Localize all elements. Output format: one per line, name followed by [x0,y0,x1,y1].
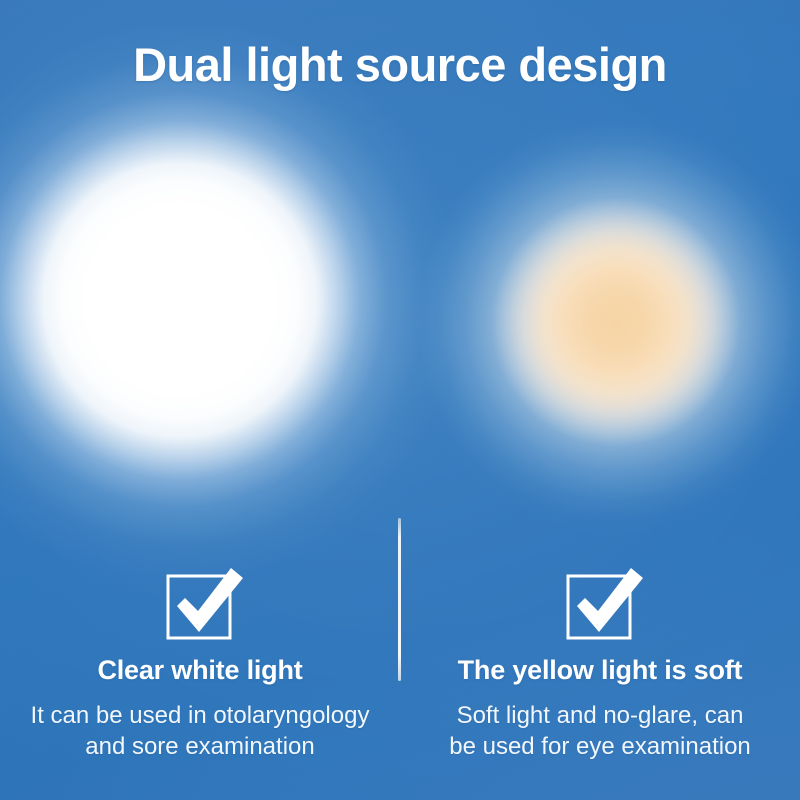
feature-heading: The yellow light is soft [458,656,743,686]
yellow-light-core [491,197,741,447]
white-light-glow [0,0,490,610]
promo-banner: Dual light source design Clear white lig… [0,0,800,800]
feature-description: It can be used in otolaryngology and sor… [5,700,395,762]
checkbox-checked-icon [553,560,648,642]
checkbox-checked-icon [153,560,248,642]
feature-white-light: Clear white light It can be used in otol… [0,560,400,762]
feature-description-line: It can be used in otolaryngology [5,700,395,731]
feature-description-line: be used for eye examination [405,731,795,762]
feature-yellow-light: The yellow light is soft Soft light and … [400,560,800,762]
feature-description: Soft light and no-glare, can be used for… [405,700,795,762]
yellow-light-halo [401,107,800,537]
feature-description-line: Soft light and no-glare, can [405,700,795,731]
feature-list: Clear white light It can be used in otol… [0,560,800,762]
feature-heading: Clear white light [97,656,302,686]
page-title: Dual light source design [0,40,800,90]
feature-description-line: and sore examination [5,731,395,762]
